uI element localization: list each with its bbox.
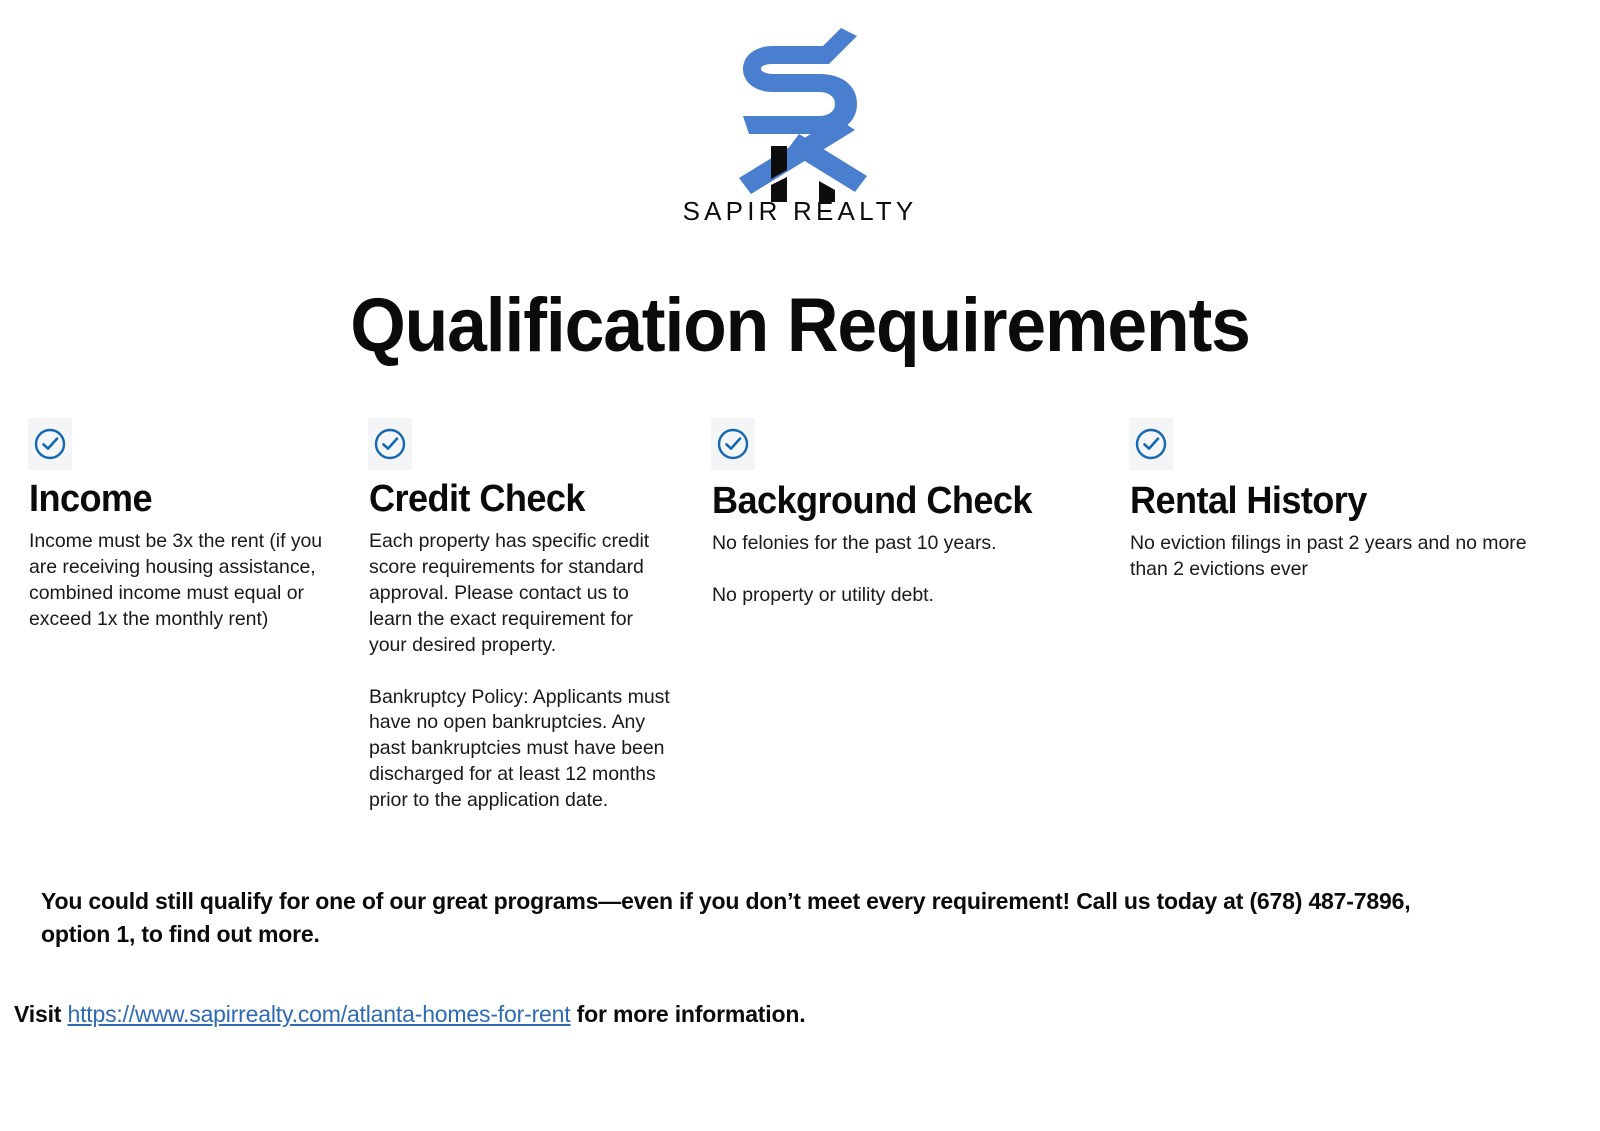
paragraph: Income must be 3x the rent (if you are r… <box>29 529 341 633</box>
check-circle-icon <box>368 418 412 470</box>
paragraph: No property or utility debt. <box>712 583 1072 609</box>
column-body-credit-check: Each property has specific credit score … <box>369 529 671 814</box>
column-body-income: Income must be 3x the rent (if you are r… <box>29 529 341 633</box>
paragraph: No felonies for the past 10 years. <box>712 531 1072 557</box>
requirement-column-income: Income Income must be 3x the rent (if yo… <box>29 418 349 633</box>
requirement-column-rental-history: Rental History No eviction filings in pa… <box>1130 418 1550 583</box>
visit-suffix: for more information. <box>570 1001 805 1027</box>
check-circle-icon <box>28 418 72 470</box>
paragraph: Each property has specific credit score … <box>369 529 671 659</box>
column-heading-background-check: Background Check <box>712 482 1092 522</box>
visit-prefix: Visit <box>14 1001 67 1027</box>
column-body-background-check: No felonies for the past 10 years. No pr… <box>712 531 1072 609</box>
column-heading-income: Income <box>29 480 333 520</box>
check-circle-icon <box>1129 418 1173 470</box>
page-title: Qualification Requirements <box>48 288 1552 364</box>
column-heading-credit-check: Credit Check <box>369 480 664 520</box>
requirement-column-background-check: Background Check No felonies for the pas… <box>712 418 1112 609</box>
paragraph: No eviction filings in past 2 years and … <box>1130 531 1548 583</box>
footer-visit-line: Visit https://www.sapirrealty.com/atlant… <box>14 998 805 1031</box>
website-link[interactable]: https://www.sapirrealty.com/atlanta-home… <box>67 1001 570 1027</box>
requirement-column-credit-check: Credit Check Each property has specific … <box>369 418 679 814</box>
requirements-columns: Income Income must be 3x the rent (if yo… <box>0 418 1600 858</box>
footer-cta-text: You could still qualify for one of our g… <box>41 885 1462 952</box>
check-circle-icon <box>711 418 755 470</box>
sapir-realty-monogram-icon <box>715 22 885 202</box>
brand-logo: SAPIR REALTY <box>0 22 1600 227</box>
column-body-rental-history: No eviction filings in past 2 years and … <box>1130 531 1548 583</box>
brand-wordmark: SAPIR REALTY <box>683 196 918 227</box>
paragraph: Bankruptcy Policy: Applicants must have … <box>369 685 671 815</box>
column-heading-rental-history: Rental History <box>1130 482 1529 522</box>
